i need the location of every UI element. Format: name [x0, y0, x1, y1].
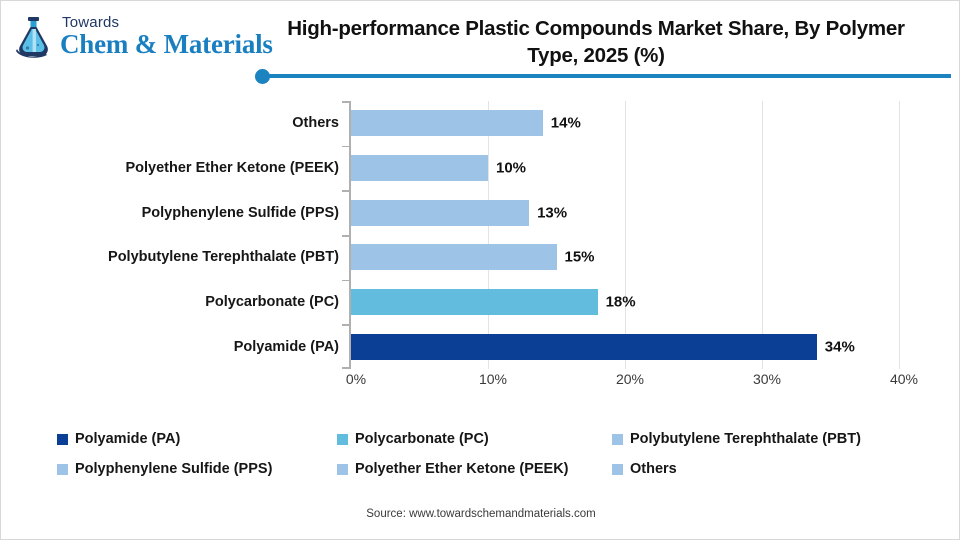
- legend-label: Others: [630, 461, 677, 477]
- axis-tick: [342, 280, 349, 282]
- legend-label: Polyether Ether Ketone (PEEK): [355, 461, 569, 477]
- legend-label: Polyamide (PA): [75, 431, 180, 447]
- axis-tick: [342, 367, 349, 369]
- category-label: Polyphenylene Sulfide (PPS): [61, 205, 339, 221]
- header-divider-dot: [255, 69, 270, 84]
- logo-line-chem-materials: Chem & Materials: [60, 31, 273, 58]
- plot-area: OthersPolyether Ether Ketone (PEEK)Polyp…: [61, 101, 921, 369]
- legend-swatch: [612, 464, 623, 475]
- legend-item[interactable]: Polyether Ether Ketone (PEEK): [337, 461, 612, 477]
- bar-value-label: 18%: [606, 294, 636, 311]
- legend-swatch: [612, 434, 623, 445]
- axis-tick: [342, 190, 349, 192]
- legend-label: Polybutylene Terephthalate (PBT): [630, 431, 861, 447]
- value-tick-label: 10%: [479, 371, 507, 387]
- legend-swatch: [57, 434, 68, 445]
- bar-value-label: 10%: [496, 160, 526, 177]
- bar-value-label: 13%: [537, 204, 567, 221]
- bar: [351, 289, 598, 315]
- category-axis: OthersPolyether Ether Ketone (PEEK)Polyp…: [61, 101, 349, 369]
- header-divider-line: [257, 74, 951, 78]
- axis-tick: [342, 101, 349, 103]
- value-axis-labels: 0%10%20%30%40%: [61, 371, 921, 391]
- bar: [351, 244, 557, 270]
- bar-series: 14%10%13%15%18%34%: [351, 101, 921, 369]
- category-label: Polyamide (PA): [61, 339, 339, 355]
- value-tick-label: 20%: [616, 371, 644, 387]
- brand-logo: Towards Chem & Materials: [13, 15, 273, 58]
- bar-row: 13%: [351, 200, 921, 226]
- bar-row: 34%: [351, 334, 921, 360]
- legend-swatch: [337, 434, 348, 445]
- logo-line-towards: Towards: [62, 15, 273, 30]
- chart-legend: Polyamide (PA)Polycarbonate (PC)Polybuty…: [57, 431, 937, 477]
- category-label: Others: [61, 115, 339, 131]
- legend-item[interactable]: Others: [612, 461, 937, 477]
- category-label: Polycarbonate (PC): [61, 294, 339, 310]
- bar-row: 10%: [351, 155, 921, 181]
- logo-wordmark: Towards Chem & Materials: [60, 15, 273, 58]
- axis-tick: [342, 324, 349, 326]
- axis-tick: [342, 235, 349, 237]
- value-tick-label: 0%: [346, 371, 366, 387]
- legend-item[interactable]: Polybutylene Terephthalate (PBT): [612, 431, 937, 447]
- bar-value-label: 34%: [825, 338, 855, 355]
- category-label: Polyether Ether Ketone (PEEK): [61, 160, 339, 176]
- legend-label: Polycarbonate (PC): [355, 431, 489, 447]
- chart-page: Towards Chem & Materials High-performanc…: [0, 0, 960, 540]
- bar: [351, 155, 488, 181]
- legend-label: Polyphenylene Sulfide (PPS): [75, 461, 272, 477]
- bar: [351, 200, 529, 226]
- bar: [351, 110, 543, 136]
- flask-icon: [13, 16, 53, 58]
- value-tick-label: 40%: [890, 371, 918, 387]
- bar-value-label: 15%: [565, 249, 595, 266]
- chart-title: High-performance Plastic Compounds Marke…: [271, 15, 921, 69]
- bar: [351, 334, 817, 360]
- bar-row: 15%: [351, 244, 921, 270]
- bar-value-label: 14%: [551, 115, 581, 132]
- category-label: Polybutylene Terephthalate (PBT): [61, 249, 339, 265]
- legend-swatch: [337, 464, 348, 475]
- source-note: Source: www.towardschemandmaterials.com: [1, 508, 960, 520]
- bar-row: 18%: [351, 289, 921, 315]
- bar-row: 14%: [351, 110, 921, 136]
- legend-item[interactable]: Polyphenylene Sulfide (PPS): [57, 461, 337, 477]
- legend-swatch: [57, 464, 68, 475]
- legend-item[interactable]: Polycarbonate (PC): [337, 431, 612, 447]
- value-tick-label: 30%: [753, 371, 781, 387]
- legend-item[interactable]: Polyamide (PA): [57, 431, 337, 447]
- axis-tick: [342, 146, 349, 148]
